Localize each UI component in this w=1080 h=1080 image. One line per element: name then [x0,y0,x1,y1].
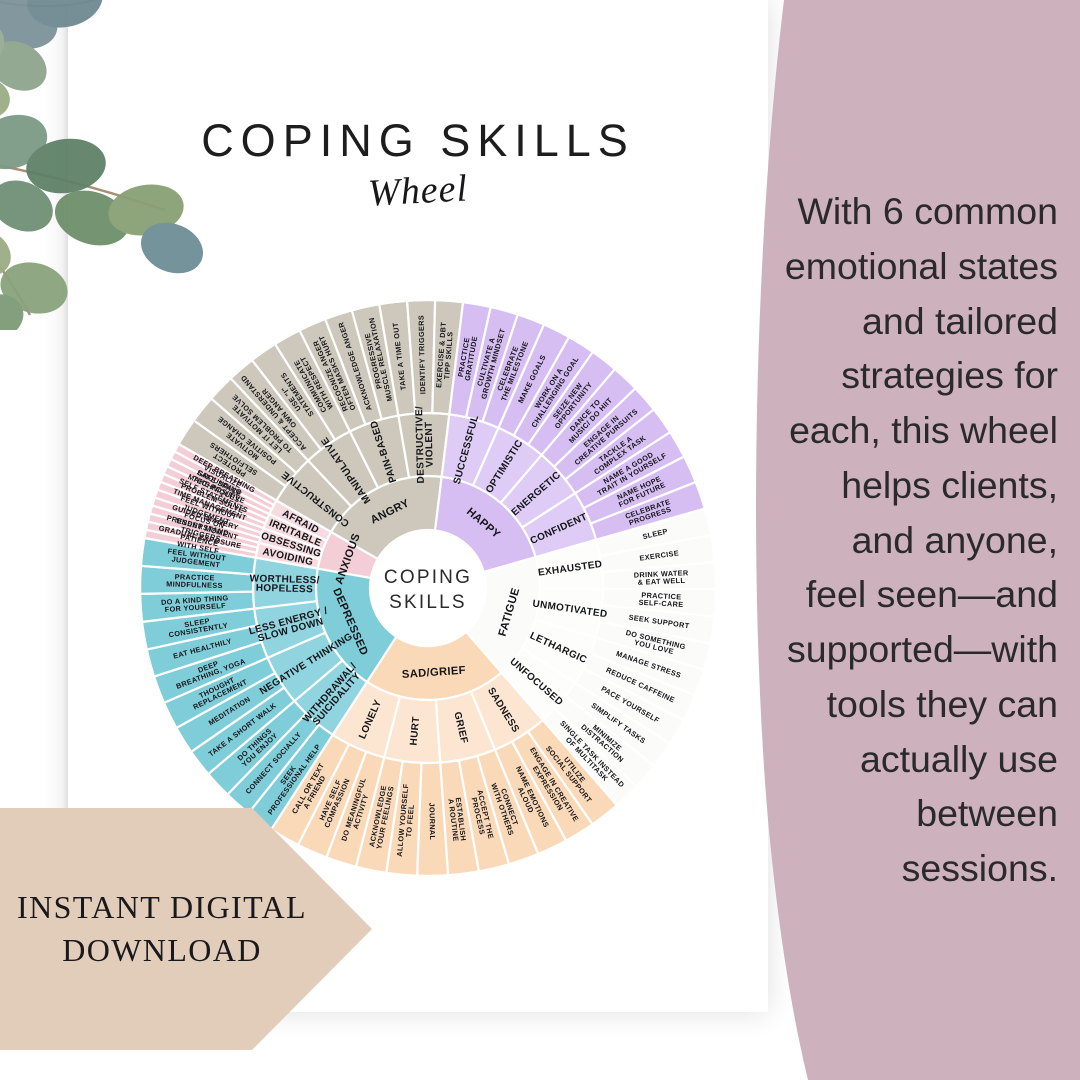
wheel-hub [370,530,486,646]
ribbon-line-1: INSTANT DIGITAL [17,886,307,929]
ribbon-line-2: DOWNLOAD [62,929,262,972]
skill-label: IDENTIFY TRIGGERS [416,315,427,394]
skill-label: PRACTICEMINDFULNESS [166,572,223,590]
skill-label: DRINK WATER& EAT WELL [634,568,690,587]
subcategory-label: WORTHLESS/HOPELESS [249,573,320,595]
coping-skills-wheel: ANGRYCONSTRUCTIVEPROTECTSELF/OTHERSMOTIV… [128,288,728,888]
hub-label-line2: SKILLS [389,592,467,613]
hub-label-line1: COPING [384,567,472,588]
instant-digital-download-ribbon: INSTANT DIGITAL DOWNLOAD [0,800,380,1058]
wheel-svg: ANGRYCONSTRUCTIVEPROTECTSELF/OTHERSMOTIV… [128,288,728,888]
skill-label: PRACTICESELF-CARE [638,590,684,609]
ribbon-text: INSTANT DIGITAL DOWNLOAD [0,800,332,1058]
poster-stage: COPING SKILLS Wheel ANGRYCONSTRUCTIVEPRO… [0,0,1080,1080]
marketing-panel: With 6 common emotional states and tailo… [750,0,1080,1080]
panel-description: With 6 common emotional states and tailo… [750,0,1058,1080]
title-block: COPING SKILLS Wheel [68,118,768,213]
skill-label: JOURNAL [428,803,438,841]
